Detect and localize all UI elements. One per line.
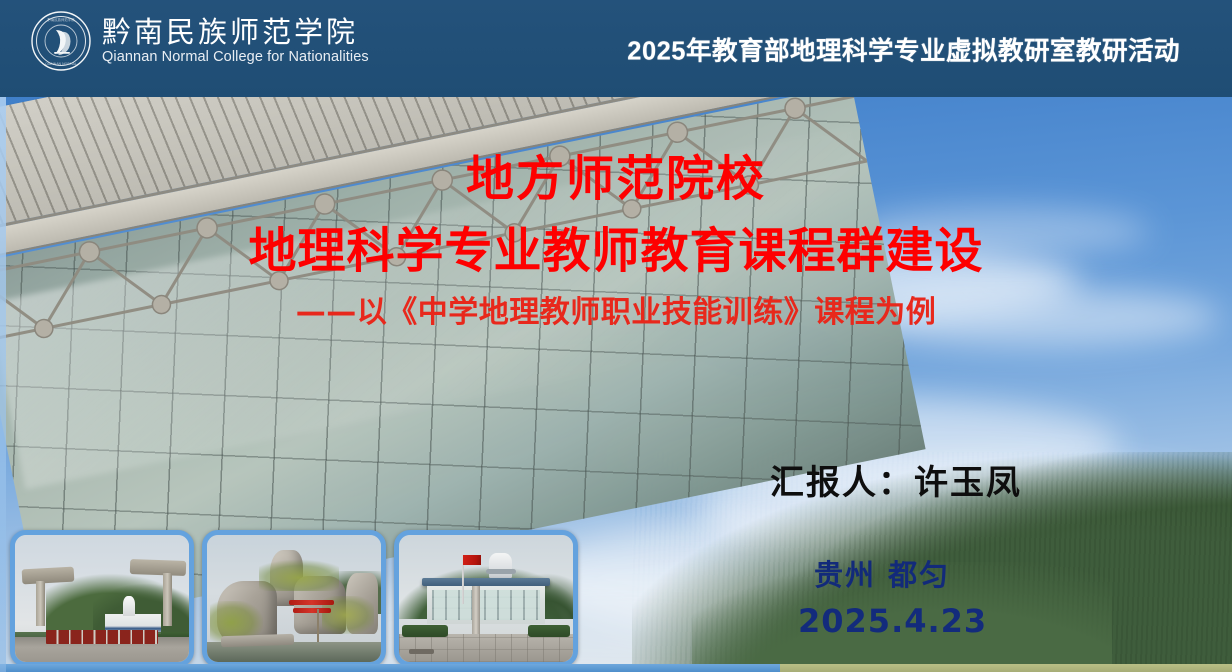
title-slide: 黔南民族师范学院 QIANNAN NORMAL 黔南民族师范学院 Qiannan… xyxy=(0,0,1232,672)
svg-text:QIANNAN NORMAL: QIANNAN NORMAL xyxy=(45,62,77,66)
thumb3-bench xyxy=(409,649,433,654)
cloud-shape xyxy=(850,207,1150,255)
thumb2-post xyxy=(317,609,320,642)
thumb1-gate-right-column xyxy=(163,573,172,626)
presenter-label: 汇报人：许玉凤 xyxy=(770,455,1022,504)
slide-header: 黔南民族师范学院 QIANNAN NORMAL 黔南民族师范学院 Qiannan… xyxy=(0,0,1232,97)
thumb2-vegetation-top xyxy=(259,558,339,591)
venue-date: 2025.4.23 xyxy=(798,602,987,640)
thumb1-tower xyxy=(123,596,135,616)
left-edge-seam xyxy=(0,97,6,672)
thumb3-shrub-right xyxy=(528,625,570,636)
school-name-en: Qiannan Normal College for Nationalities xyxy=(102,50,369,66)
thumb3-glass-facade xyxy=(432,590,540,620)
thumbnail-strip xyxy=(10,530,578,667)
svg-text:黔南民族师范学院: 黔南民族师范学院 xyxy=(47,17,75,22)
thumb3-pillar xyxy=(472,586,480,639)
thumb1-gate-left-beam xyxy=(22,567,75,585)
thumb1-gate-left-column xyxy=(36,581,45,627)
thumb3-flag xyxy=(463,555,480,565)
thumb3-plaza-paving xyxy=(399,634,573,662)
main-building-photo-inner xyxy=(399,535,573,662)
thumb3-tower-band xyxy=(486,569,516,574)
rock-garden-photo-inner xyxy=(207,535,381,662)
inscription-line xyxy=(289,600,334,605)
event-title: 2025年教育部地理科学专业虚拟教研室教研活动 xyxy=(627,31,1180,68)
thumb3-canopy xyxy=(422,578,551,586)
rock-garden-photo xyxy=(202,530,386,667)
school-name-block: 黔南民族师范学院 Qiannan Normal College for Nati… xyxy=(102,16,369,65)
thumb1-gate-right-beam xyxy=(130,559,186,576)
campus-gate-photo-inner xyxy=(15,535,189,662)
thumb2-carved-inscription xyxy=(289,595,338,618)
main-building-photo xyxy=(394,530,578,667)
edge-blue-segment xyxy=(0,664,780,672)
university-seal-icon: 黔南民族师范学院 QIANNAN NORMAL xyxy=(30,10,92,72)
school-branding: 黔南民族师范学院 QIANNAN NORMAL 黔南民族师范学院 Qiannan… xyxy=(30,10,369,72)
edge-khaki-segment xyxy=(780,664,1232,672)
thumb1-sign-boards xyxy=(46,630,157,644)
thumb3-shrub-left xyxy=(402,625,447,636)
campus-gate-photo xyxy=(10,530,194,667)
thumb3-tower xyxy=(489,553,512,578)
bottom-edge-strip xyxy=(0,664,1232,672)
school-name-cn: 黔南民族师范学院 xyxy=(102,16,369,48)
inscription-line xyxy=(293,608,331,613)
venue-place: 贵州 都匀 xyxy=(814,552,950,594)
